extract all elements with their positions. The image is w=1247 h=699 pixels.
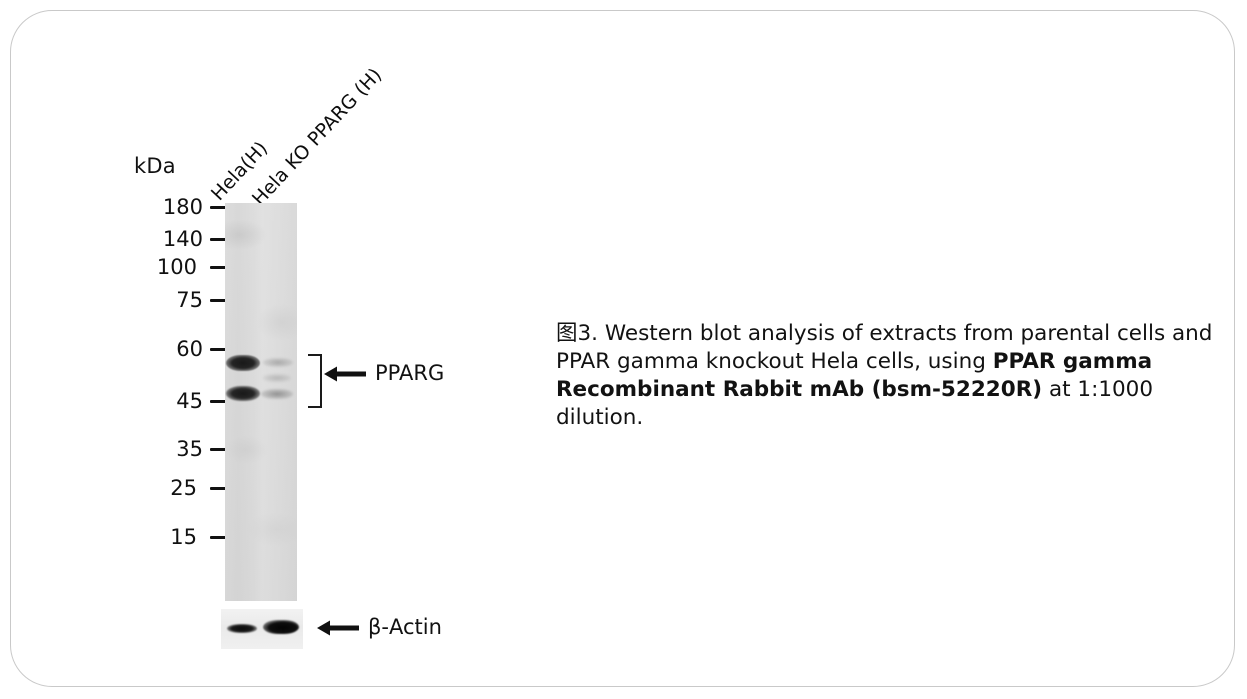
band-lane2-lower — [261, 389, 293, 399]
left-arrow-icon — [317, 619, 359, 637]
western-blot-figure: kDa 180 140 100 75 60 — [11, 11, 531, 688]
annotation-beta-actin: β-Actin — [317, 617, 442, 638]
marker-75: 75 — [131, 290, 231, 310]
marker-45: 45 — [131, 391, 231, 411]
annotation-pparg: PPARG — [324, 363, 444, 384]
band-lane1-lower — [226, 386, 260, 401]
band-lane1-upper — [226, 355, 260, 371]
band-actin-lane1 — [227, 624, 257, 633]
band-lane2-upper — [263, 358, 293, 367]
caption-prefix: 图3. — [556, 321, 605, 346]
marker-25: 25 — [131, 478, 231, 498]
blot-membrane-main — [225, 203, 297, 601]
lane-label-hela-ko-pparg: Hela KO PPARG (H) — [248, 64, 386, 210]
marker-35: 35 — [131, 439, 231, 459]
marker-60: 60 — [131, 339, 231, 359]
marker-180: 180 — [131, 197, 231, 217]
marker-140: 140 — [131, 229, 231, 249]
kda-axis-title: kDa — [134, 154, 176, 178]
annotation-label-pparg: PPARG — [375, 363, 444, 384]
figure-card: kDa 180 140 100 75 60 — [10, 10, 1235, 687]
marker-15: 15 — [131, 527, 231, 547]
band-lane2-middle — [263, 374, 291, 382]
marker-100: 100 — [131, 257, 231, 277]
blot-membrane-actin — [221, 609, 303, 649]
figure-caption: 图3. Western blot analysis of extracts fr… — [556, 320, 1218, 432]
left-arrow-icon — [324, 365, 366, 383]
pparg-bracket-icon — [308, 354, 322, 408]
band-actin-lane2 — [263, 620, 299, 634]
annotation-label-beta-actin: β-Actin — [368, 617, 442, 638]
